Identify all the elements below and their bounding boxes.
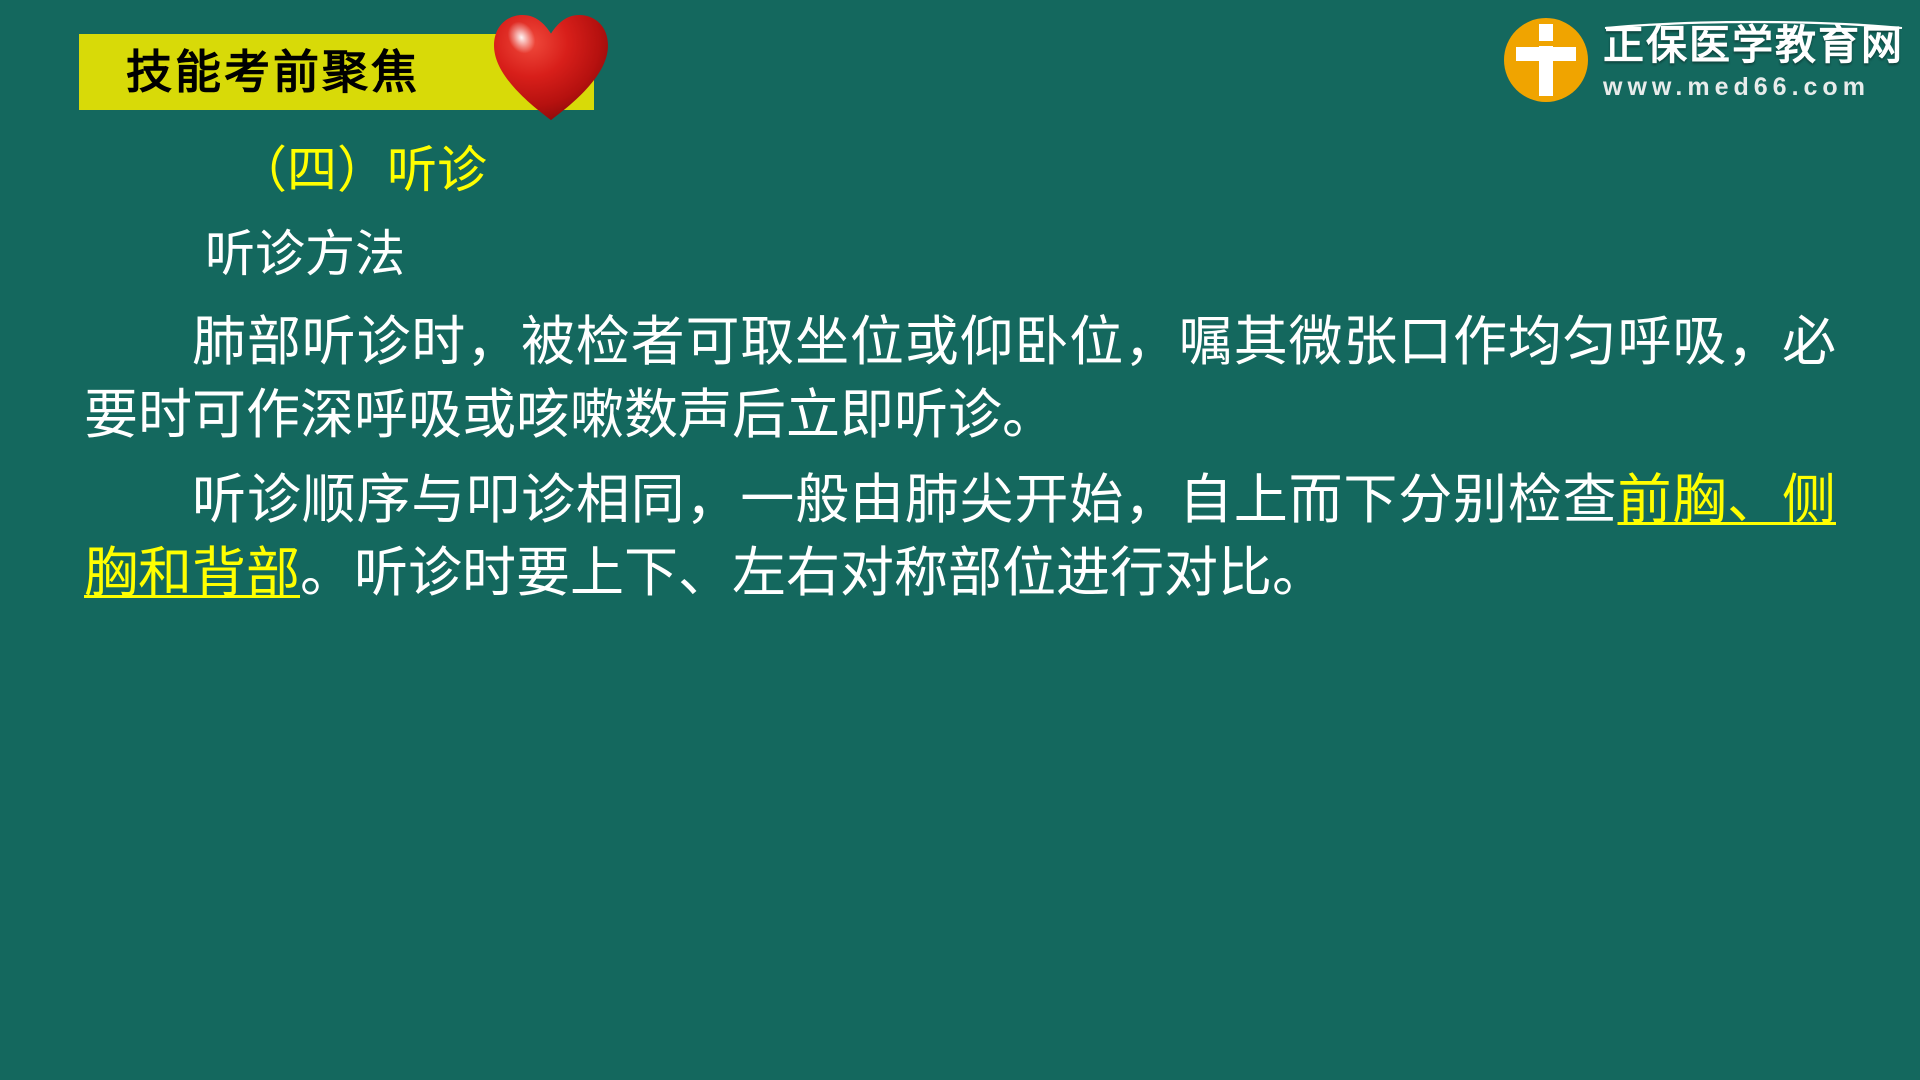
heart-icon (492, 12, 610, 124)
paragraph-run: 。听诊时要上下、左右对称部位进行对比。 (300, 543, 1326, 603)
site-logo: 正保医学教育网 www.med66.com (1503, 14, 1904, 106)
paragraph-run: 听诊顺序与叩诊相同，一般由肺尖开始，自上而下分别检查 (192, 470, 1618, 530)
slide-content: （四）听诊 听诊方法 肺部听诊时，被检者可取坐位或仰卧位，嘱其微张口作均匀呼吸，… (0, 140, 1920, 616)
paragraph-sequence: 听诊顺序与叩诊相同，一般由肺尖开始，自上而下分别检查前胸、侧胸和背部。听诊时要上… (0, 464, 1920, 610)
section-heading: （四）听诊 (0, 140, 1920, 200)
paragraph-method: 肺部听诊时，被检者可取坐位或仰卧位，嘱其微张口作均匀呼吸，必要时可作深呼吸或咳嗽… (0, 306, 1920, 452)
banner: 技能考前聚焦 (79, 34, 420, 110)
banner-title: 技能考前聚焦 (79, 34, 420, 110)
paragraph-run: 肺部听诊时，被检者可取坐位或仰卧位，嘱其微张口作均匀呼吸，必要时可作深呼吸或咳嗽… (84, 312, 1836, 445)
logo-website-url: www.med66.com (1603, 75, 1904, 100)
logo-brand-name: 正保医学教育网 (1603, 25, 1904, 66)
section-subheading: 听诊方法 (0, 224, 1920, 284)
slide-root: 技能考前聚焦 (0, 0, 1920, 1080)
logo-text-block: 正保医学教育网 www.med66.com (1603, 20, 1904, 100)
medical-cross-circle-logo-icon (1503, 17, 1589, 103)
